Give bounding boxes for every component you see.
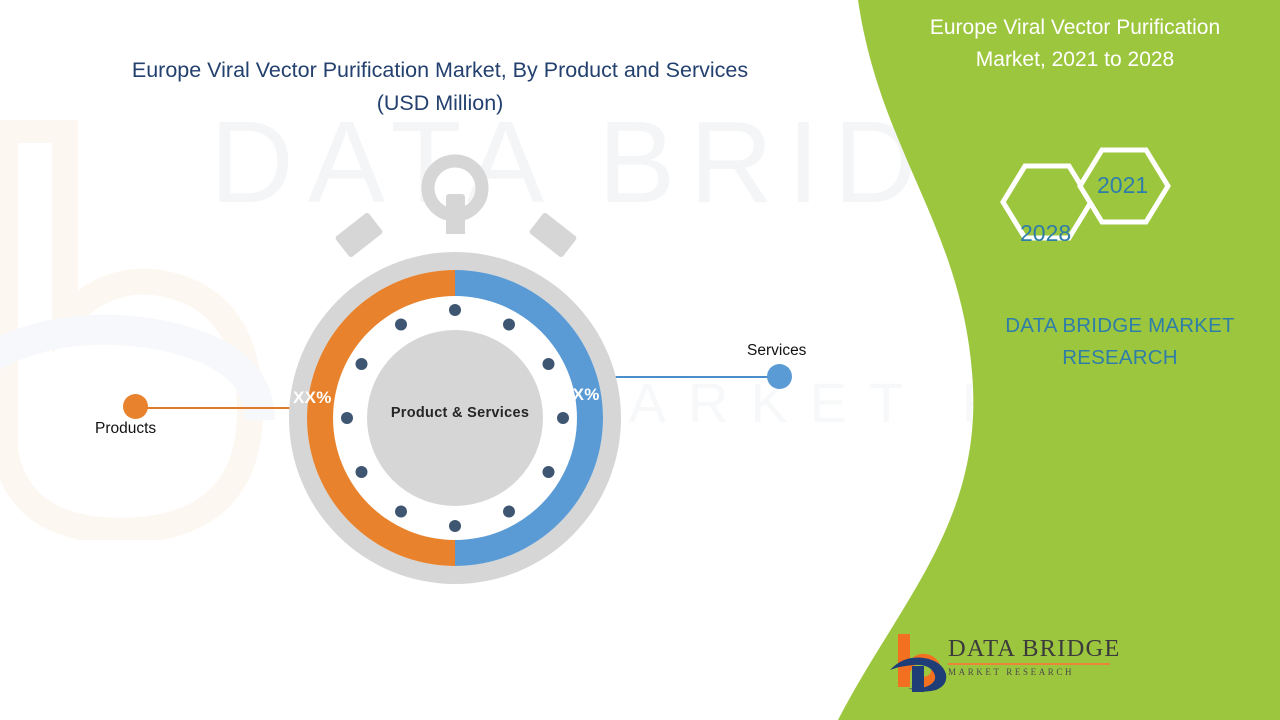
panel-brand-line-1: DATA BRIDGE MARKET: [975, 310, 1265, 342]
chart-title-line-2: (USD Million): [60, 87, 820, 120]
callout-dot-services[interactable]: [767, 364, 792, 389]
hexagon-2021-label: 2021: [1097, 172, 1148, 199]
stopwatch-donut-chart: [250, 150, 670, 590]
panel-title: Europe Viral Vector Purification Market,…: [890, 12, 1260, 76]
panel-title-line-1: Europe Viral Vector Purification: [890, 12, 1260, 44]
hexagon-group: [985, 140, 1185, 275]
logo-sub-text: MARKET RESEARCH: [948, 667, 1113, 677]
panel-title-line-2: Market, 2021 to 2028: [890, 44, 1260, 76]
slice-value-products: XX%: [293, 388, 332, 408]
panel-brand-name: DATA BRIDGE MARKET RESEARCH: [975, 310, 1265, 374]
callout-dot-products[interactable]: [123, 394, 148, 419]
donut-hub: [367, 330, 543, 506]
logo-main-text: DATA BRIDGE: [948, 635, 1113, 662]
panel-brand-line-2: RESEARCH: [975, 342, 1265, 374]
page-title: Europe Viral Vector Purification Market,…: [60, 54, 820, 120]
infographic-canvas: DATA BRIDGE MARKET RESEARCH Europe Viral…: [0, 0, 1280, 720]
slice-value-services: XX%: [561, 385, 600, 405]
hexagon-2028-label: 2028: [1020, 220, 1071, 247]
callout-label-services: Services: [747, 342, 806, 360]
data-bridge-logo-icon: [888, 630, 950, 694]
callout-label-products: Products: [95, 420, 156, 438]
logo-wordmark: DATA BRIDGE MARKET RESEARCH: [948, 635, 1113, 677]
logo-divider: [948, 663, 1110, 665]
data-bridge-logo[interactable]: DATA BRIDGE MARKET RESEARCH: [888, 630, 1113, 700]
chart-title-line-1: Europe Viral Vector Purification Market,…: [60, 54, 820, 87]
